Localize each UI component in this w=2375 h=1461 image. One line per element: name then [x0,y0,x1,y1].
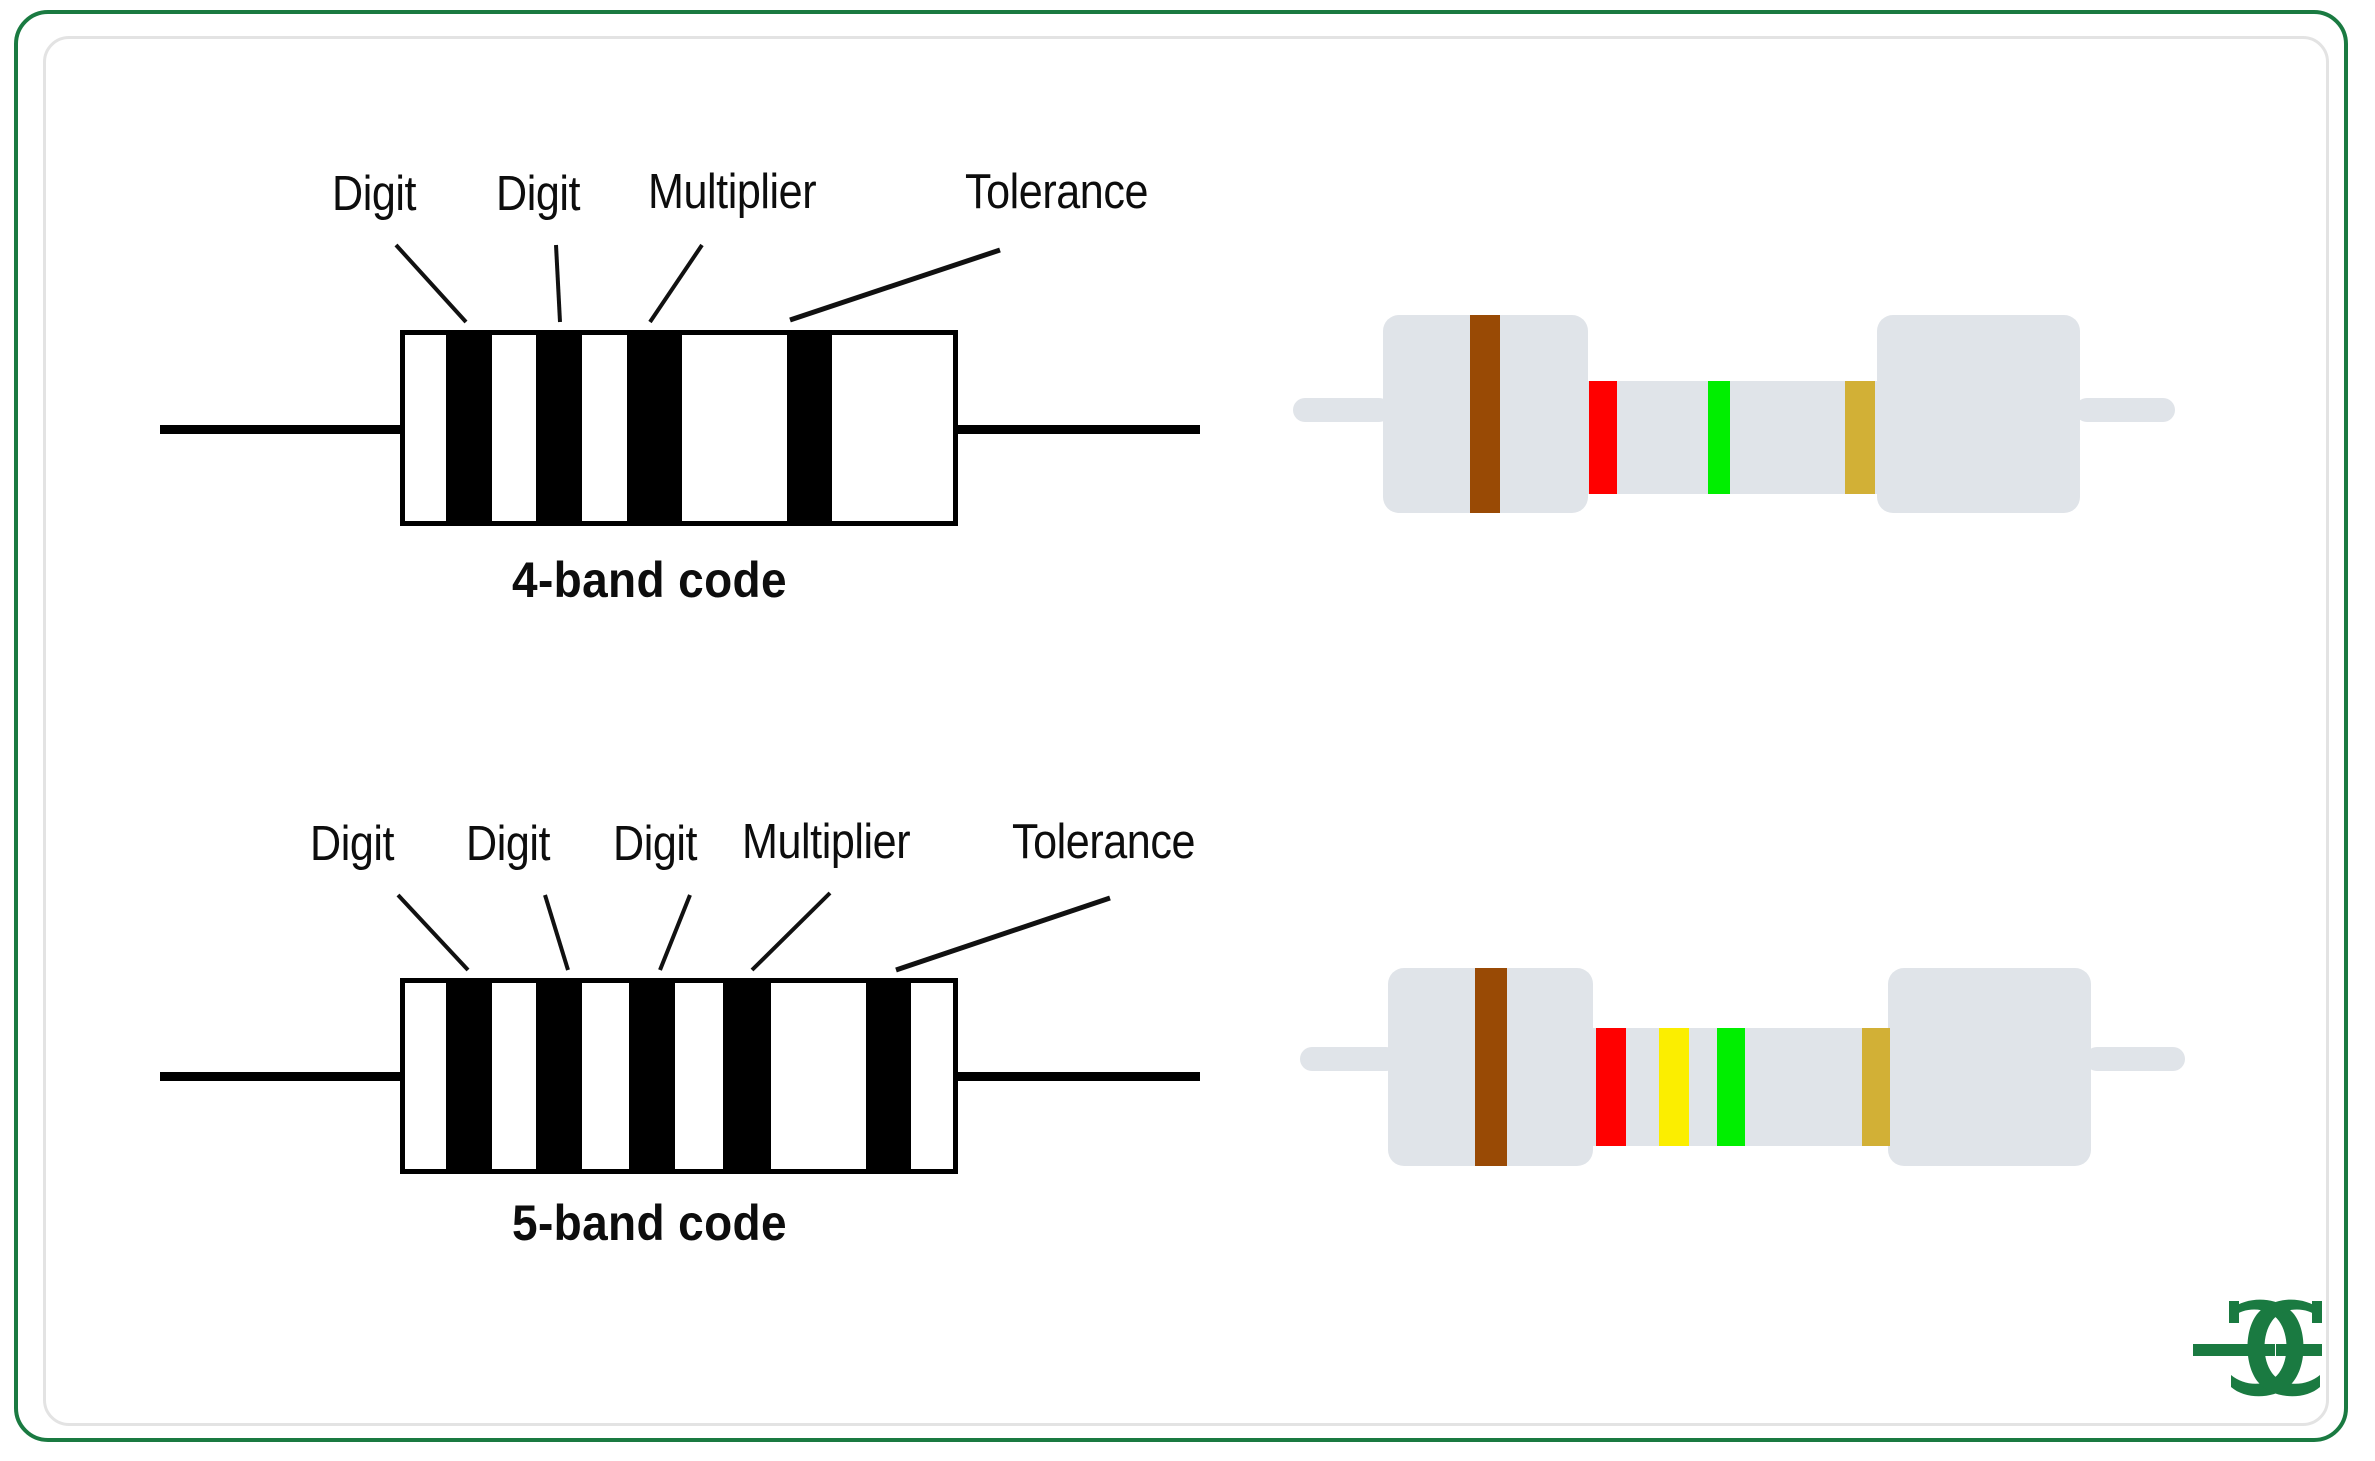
schematic-band-1 [446,335,492,521]
label-four-band-multiplier: Multiplier [648,168,816,217]
gfg-logo-icon [2133,1287,2323,1417]
schematic-band-4 [787,335,832,521]
schematic-band-2 [536,983,582,1169]
schematic-band-5 [866,983,911,1169]
photo-cap-right [1888,968,2091,1166]
schematic-lead-left [160,1072,405,1081]
label-five-band-tolerance: Tolerance [1012,818,1195,867]
label-four-band-tolerance: Tolerance [965,168,1148,217]
photo-lead-left [1300,1047,1398,1071]
label-five-band-multiplier: Multiplier [742,818,910,867]
label-four-band-digit-1: Digit [332,170,416,219]
figure-canvas: Digit Digit Multiplier Tolerance 4-band … [0,0,2375,1461]
caption-five-band: 5-band code [512,1198,787,1248]
photo-band-1-brown [1470,315,1500,513]
photo-band-2-red [1589,381,1617,494]
schematic-band-1 [446,983,492,1169]
label-five-band-digit-3: Digit [613,820,697,869]
label-four-band-digit-2: Digit [496,170,580,219]
schematic-band-3 [627,335,682,521]
label-five-band-digit-1: Digit [310,820,394,869]
photo-midsection [1585,381,1881,494]
schematic-band-4 [723,983,771,1169]
photo-band-3-yellow [1659,1028,1689,1146]
photo-cap-right [1877,315,2080,513]
schematic-body [400,330,958,526]
schematic-lead-right [950,425,1200,434]
caption-four-band: 4-band code [512,555,787,605]
photo-lead-right [2085,1047,2185,1071]
schematic-lead-left [160,425,405,434]
schematic-lead-right [950,1072,1200,1081]
label-five-band-digit-2: Digit [466,820,550,869]
photo-band-5-gold [1862,1028,1890,1146]
inner-border [43,36,2329,1426]
photo-band-4-green [1717,1028,1745,1146]
photo-band-2-red [1596,1028,1626,1146]
schematic-band-2 [536,335,582,521]
photo-band-4-gold [1845,381,1875,494]
schematic-body [400,978,958,1174]
photo-lead-right [2075,398,2175,422]
photo-lead-left [1293,398,1391,422]
photo-band-1-brown [1475,968,1507,1166]
photo-band-3-green [1708,381,1730,494]
schematic-band-3 [629,983,675,1169]
